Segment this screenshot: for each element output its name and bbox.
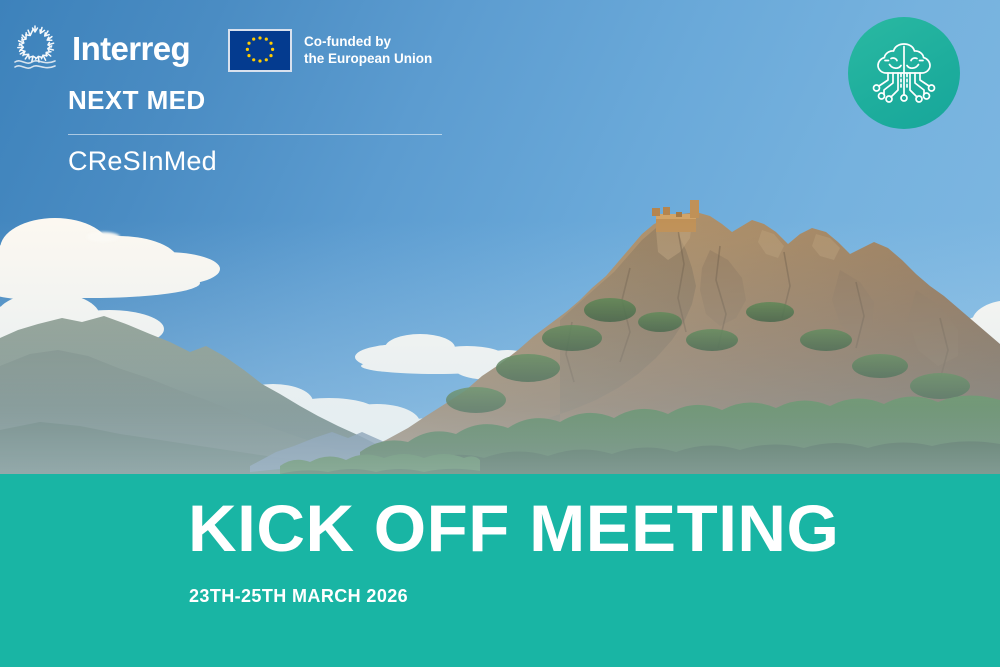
interreg-wordmark: Interreg <box>72 32 190 65</box>
eu-funding-emblem: Co-funded by the European Union <box>228 29 432 72</box>
interreg-sun-wave-icon <box>12 24 58 72</box>
hilltop-fortress <box>652 200 699 232</box>
eu-funding-line-1: Co-funded by <box>304 34 432 50</box>
cloud-brain-circuit-icon <box>870 38 938 108</box>
programme-name: NEXT MED <box>68 85 206 116</box>
poster-root: KICK OFF MEETING 23TH-25TH MARCH 2026 <box>0 0 1000 667</box>
project-name: CReSInMed <box>68 146 217 177</box>
logo-divider <box>68 134 442 135</box>
event-dates: 23TH-25TH MARCH 2026 <box>189 586 408 607</box>
branding-block: Interreg <box>0 0 470 190</box>
event-title: KICK OFF MEETING <box>188 495 839 561</box>
cloud-wisp-small <box>86 232 120 242</box>
project-badge <box>848 17 960 129</box>
eu-funding-text: Co-funded by the European Union <box>304 34 432 67</box>
interreg-logo: Interreg <box>12 24 190 72</box>
eu-flag-icon <box>228 29 292 72</box>
eu-funding-line-2: the European Union <box>304 51 432 67</box>
